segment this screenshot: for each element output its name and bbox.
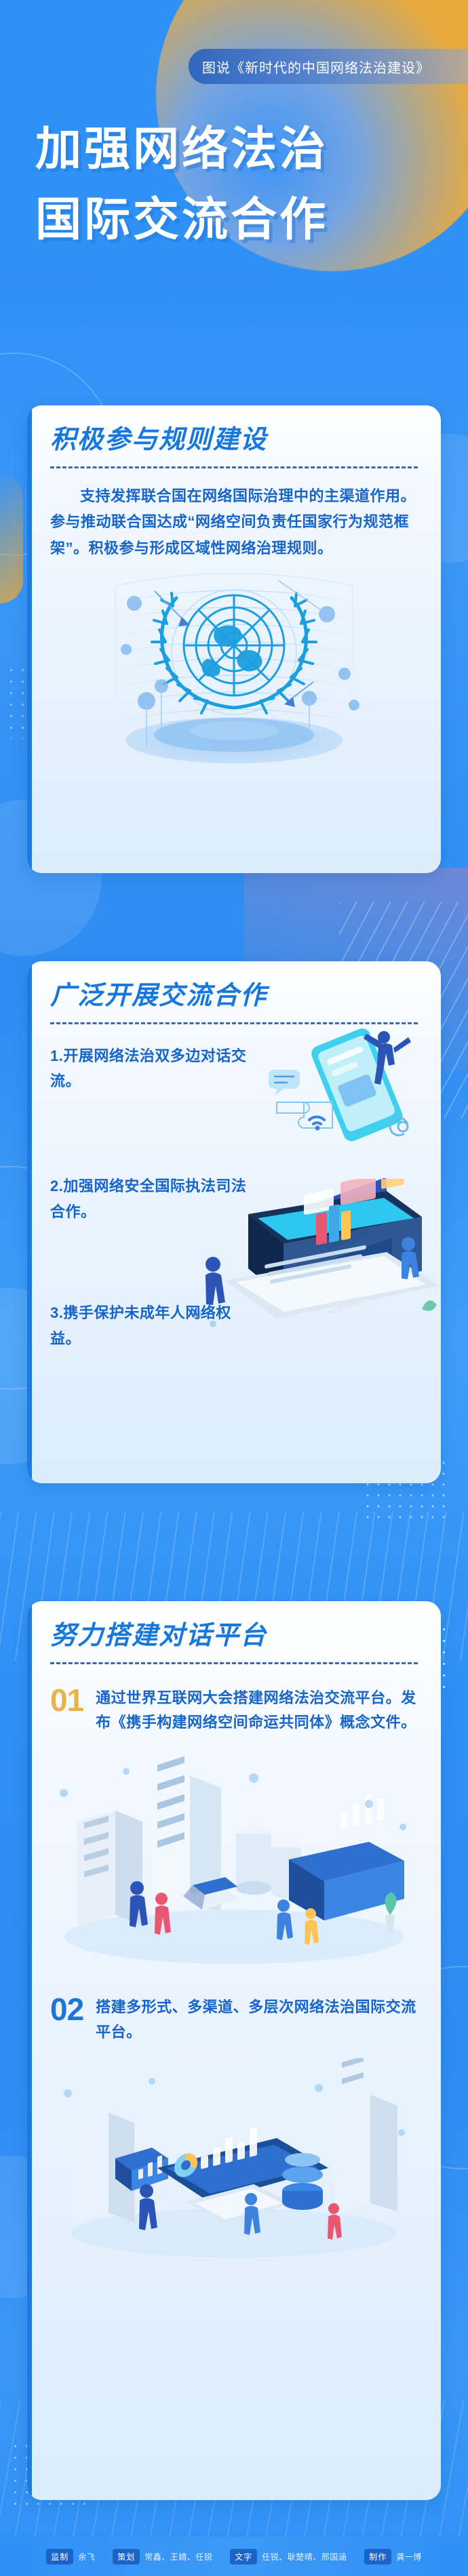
dashboard-analytics-illustration bbox=[50, 2058, 418, 2261]
credit-names: 余飞 bbox=[78, 2551, 95, 2562]
section-card-3: 努力搭建对话平台 01 通过世界互联网大会搭建网络法治交流平台。发布《携手构建网… bbox=[27, 1601, 441, 2500]
list-item: 3.携手保护未成年人网络权益。 bbox=[50, 1300, 254, 1351]
credit-item: 策划 常鑫、王婧、任锐 bbox=[113, 2549, 212, 2564]
eyebrow-text: 图说《新时代的中国网络法治建设》 bbox=[202, 57, 430, 77]
deco-orange-sliver bbox=[0, 475, 23, 603]
list-item-text: 携手保护未成年人网络权益。 bbox=[50, 1304, 231, 1346]
block-number: 01 bbox=[50, 1685, 83, 1716]
dashboard-analytics-svg bbox=[50, 2058, 418, 2261]
credit-names: 龚一博 bbox=[396, 2551, 422, 2562]
credit-item: 文字 任锐、耿楚晴、邢国涵 bbox=[230, 2549, 347, 2564]
block-text: 通过世界互联网大会搭建网络法治交流平台。发布《携手构建网络空间命运共同体》概念文… bbox=[96, 1685, 418, 1735]
section-1-title: 积极参与规则建设 bbox=[50, 426, 418, 456]
list-item-number: 1. bbox=[50, 1047, 63, 1064]
block-text: 搭建多形式、多渠道、多层次网络法治国际交流平台。 bbox=[96, 1994, 418, 2045]
credit-item: 制作 龚一博 bbox=[364, 2549, 422, 2564]
list-item-text: 开展网络法治双多边对话交流。 bbox=[50, 1047, 246, 1089]
section-card-2: 广泛开展交流合作 bbox=[27, 961, 441, 1483]
list-item-number: 2. bbox=[50, 1178, 63, 1194]
section-card-1: 积极参与规则建设 支持发挥联合国在网络国际治理中的主渠道作用。参与推动联合国达成… bbox=[27, 405, 441, 873]
list-item: 2.加强网络安全国际执法司法合作。 bbox=[50, 1173, 254, 1224]
block-number: 02 bbox=[50, 1994, 83, 2025]
credit-role: 文字 bbox=[230, 2549, 257, 2564]
section-1-divider bbox=[50, 466, 418, 468]
credit-role: 制作 bbox=[364, 2549, 391, 2564]
section-1-body: 支持发挥联合国在网络国际治理中的主渠道作用。参与推动联合国达成“网络空间负责任国… bbox=[50, 483, 418, 562]
numbered-block-01: 01 通过世界互联网大会搭建网络法治交流平台。发布《携手构建网络空间命运共同体》… bbox=[50, 1685, 418, 1735]
conference-city-illustration bbox=[50, 1746, 418, 1969]
section-2-item-list: 1.开展网络法治双多边对话交流。 2.加强网络安全国际执法司法合作。 3.携手保… bbox=[50, 1043, 418, 1351]
credit-names: 常鑫、王婧、任锐 bbox=[144, 2551, 212, 2562]
section-3-title: 努力搭建对话平台 bbox=[50, 1622, 418, 1651]
credit-item: 监制 余飞 bbox=[46, 2549, 95, 2564]
un-emblem-svg bbox=[75, 565, 393, 769]
section-2-title: 广泛开展交流合作 bbox=[50, 982, 418, 1011]
eyebrow-ribbon: 图说《新时代的中国网络法治建设》 bbox=[189, 49, 468, 84]
list-item-text: 加强网络安全国际执法司法合作。 bbox=[50, 1178, 246, 1220]
conference-city-svg bbox=[50, 1746, 418, 1969]
main-title-line-1: 加强网络法治 bbox=[35, 126, 328, 172]
credit-role: 策划 bbox=[113, 2549, 140, 2564]
footer-credits-bar: 监制 余飞 策划 常鑫、王婧、任锐 文字 任锐、耿楚晴、邢国涵 制作 龚一博 bbox=[0, 2537, 468, 2576]
section-3-divider bbox=[50, 1662, 418, 1664]
main-title-line-2: 国际交流合作 bbox=[35, 197, 328, 243]
numbered-block-02: 02 搭建多形式、多渠道、多层次网络法治国际交流平台。 bbox=[50, 1994, 418, 2045]
list-item-number: 3. bbox=[50, 1304, 63, 1321]
infographic-poster: 图说《新时代的中国网络法治建设》 加强网络法治 国际交流合作 积极参与规则建设 … bbox=[0, 0, 468, 2576]
credit-names: 任锐、耿楚晴、邢国涵 bbox=[262, 2551, 347, 2562]
credit-role: 监制 bbox=[46, 2549, 73, 2564]
list-item: 1.开展网络法治双多边对话交流。 bbox=[50, 1043, 254, 1094]
un-emblem-hologram-illustration bbox=[50, 565, 418, 769]
